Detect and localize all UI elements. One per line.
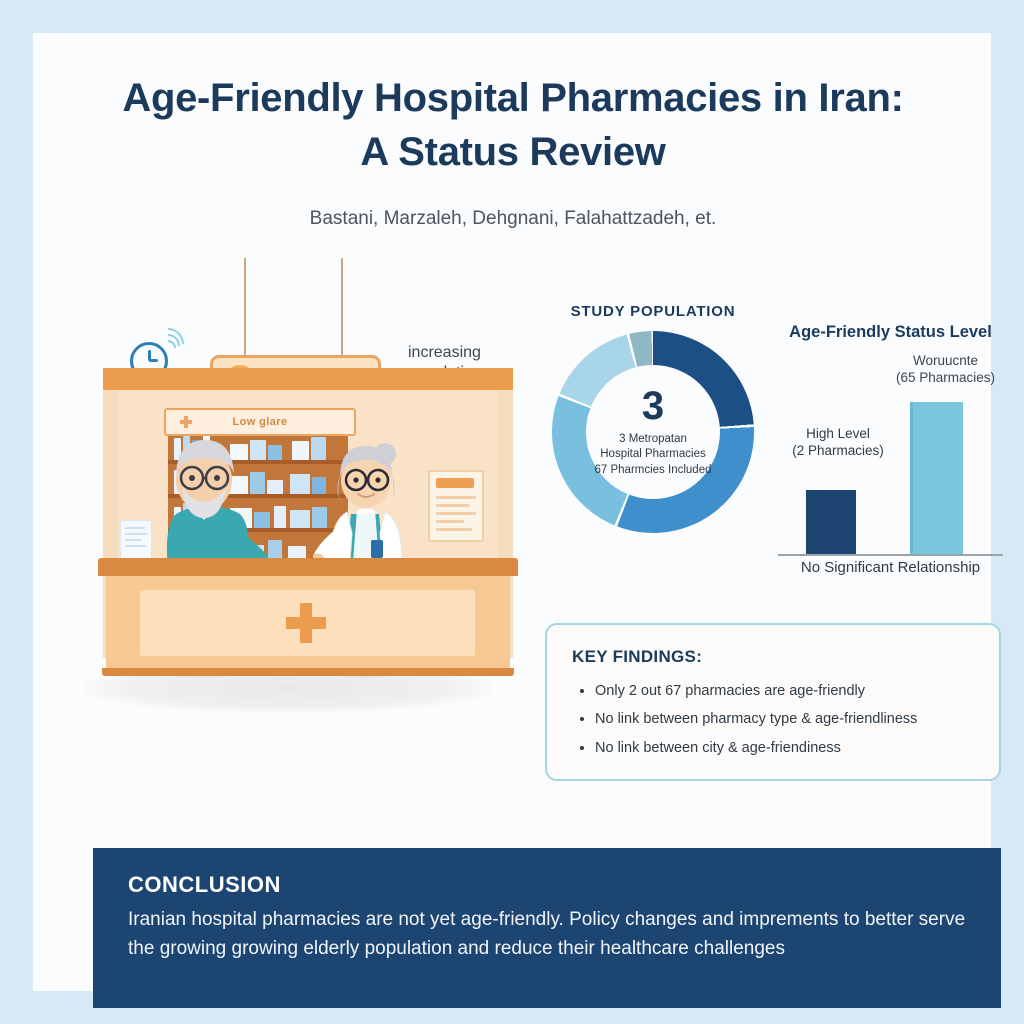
key-finding-item: No link between pharmacy type & age-frie… [595,705,1005,733]
pharmacy-illustration: Loidyin ntowyl Pinpkoil increasing popul… [58,258,513,723]
sign-rope-left [244,258,246,358]
shelf-cross-icon [180,416,192,428]
title-line-2: A Status Review [93,125,933,179]
counter-base [102,668,514,676]
key-finding-item: No link between city & age-friendiness [595,734,1005,762]
bar-high-level [806,490,856,554]
donut-caption-line-2: Hospital Pharmacies [595,447,712,463]
bar-chart-title: Age-Friendly Status Level [768,323,1013,342]
counter-cross-icon [286,603,326,643]
key-finding-item: Only 2 out 67 pharmacies are age-friendl… [595,677,1005,705]
infographic-card: Age-Friendly Hospital Pharmacies in Iran… [33,33,991,991]
age-friendly-status-chart: Age-Friendly Status Level High Level (2 … [768,323,1013,588]
bar-moderate-level [910,402,963,554]
page-title: Age-Friendly Hospital Pharmacies in Iran… [93,71,933,179]
bar-axis-line [778,554,1003,556]
donut-caption-line-1: 3 Metropatan [595,432,712,448]
wall-poster [428,470,484,542]
donut-caption-line-3: 67 Pharmcies Included [595,463,712,479]
key-findings-box: KEY FINDINGS: Only 2 out 67 pharmacies a… [545,623,1001,781]
bar-2-label-line-2: (65 Pharmacies) [883,370,1008,387]
pharmacy-counter-top [98,558,518,576]
sign-rope-right [341,258,343,358]
authors-line: Bastani, Marzaleh, Dehgnani, Falahattzad… [93,208,933,230]
key-findings-title: KEY FINDINGS: [572,647,702,667]
donut-center-number: 3 [642,386,664,426]
bar-1-label-line-2: (2 Pharmacies) [783,443,893,460]
bar-2-label-line-1: Woruucnte [883,353,1008,370]
conclusion-body: Iranian hospital pharmacies are not yet … [128,906,978,963]
title-line-1: Age-Friendly Hospital Pharmacies in Iran… [93,71,933,125]
bar-1-label: High Level (2 Pharmacies) [783,426,893,460]
bar-chart-caption: No Significant Relationship [768,559,1013,576]
bar-2-label: Woruucnte (65 Pharmacies) [883,353,1008,387]
infographic-page: Age-Friendly Hospital Pharmacies in Iran… [0,0,1024,1024]
shelf-label-text: Low glare [233,416,288,428]
bar-plot-area: High Level (2 Pharmacies) Woruucnte (65 … [778,351,1003,554]
study-population-chart: STUDY POPULATION 3 3 Metropatan Hospital… [538,303,768,563]
donut-center-caption: 3 Metropatan Hospital Pharmacies 67 Phar… [595,432,712,479]
conclusion-panel: CONCLUSION Iranian hospital pharmacies a… [93,848,1001,1008]
donut-center: 3 3 Metropatan Hospital Pharmacies 67 Ph… [586,365,720,499]
conclusion-title: CONCLUSION [128,872,281,898]
donut-chart-title: STUDY POPULATION [538,303,768,320]
key-findings-list: Only 2 out 67 pharmacies are age-friendl… [577,677,1005,762]
store-wall-trim [103,368,513,390]
bar-1-label-line-1: High Level [783,426,893,443]
